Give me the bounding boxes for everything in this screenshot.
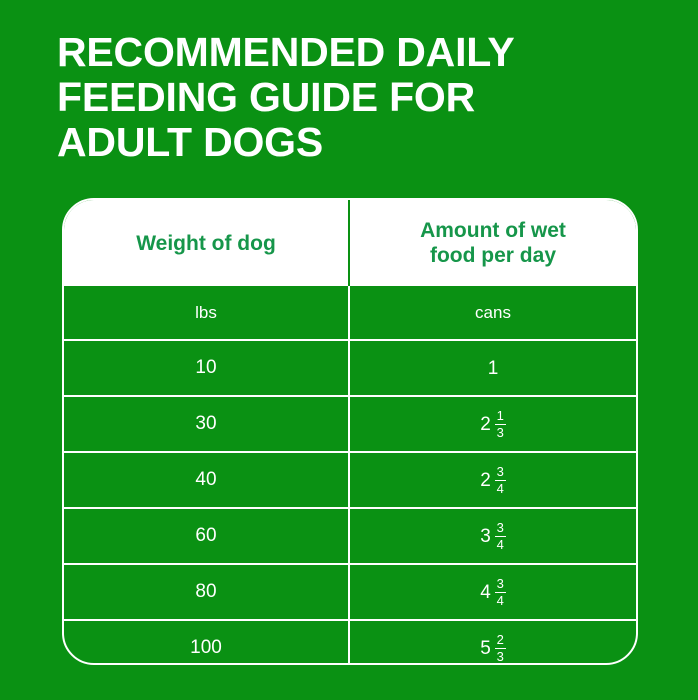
column-header-weight: Weight of dog xyxy=(64,200,350,286)
units-cell-amount: cans xyxy=(350,286,636,339)
cell-amount: 4 3 4 xyxy=(350,565,636,619)
column-header-weight-label: Weight of dog xyxy=(136,231,276,256)
cell-weight: 80 xyxy=(64,565,350,619)
fraction-denominator: 3 xyxy=(496,426,505,440)
column-header-amount: Amount of wet food per day xyxy=(350,200,636,286)
amount-whole: 5 xyxy=(480,639,491,658)
amount-fraction: 3 4 xyxy=(495,577,506,607)
units-label-lbs: lbs xyxy=(195,303,217,323)
amount-value: 4 3 4 xyxy=(480,577,506,607)
amount-value: 5 2 3 xyxy=(480,633,506,663)
weight-value: 40 xyxy=(195,469,216,491)
amount-whole: 4 xyxy=(480,583,491,602)
table-row: 60 3 3 4 xyxy=(64,507,636,563)
cell-amount: 5 2 3 xyxy=(350,621,636,665)
fraction-denominator: 4 xyxy=(496,482,505,496)
cell-amount: 1 xyxy=(350,341,636,395)
amount-value: 2 3 4 xyxy=(480,465,506,495)
fraction-denominator: 3 xyxy=(496,650,505,664)
table-row: 80 4 3 4 xyxy=(64,563,636,619)
cell-weight: 60 xyxy=(64,509,350,563)
weight-value: 60 xyxy=(195,525,216,547)
cell-amount: 2 1 3 xyxy=(350,397,636,451)
cell-amount: 2 3 4 xyxy=(350,453,636,507)
fraction-numerator: 2 xyxy=(496,633,505,647)
amount-value: 3 3 4 xyxy=(480,521,506,551)
cell-weight: 30 xyxy=(64,397,350,451)
page-title: Recommended daily feeding guide for adul… xyxy=(57,30,637,165)
cell-weight: 10 xyxy=(64,341,350,395)
column-header-amount-label: Amount of wet food per day xyxy=(420,218,566,268)
table-row: 30 2 1 3 xyxy=(64,395,636,451)
weight-value: 30 xyxy=(195,413,216,435)
weight-value: 100 xyxy=(190,637,222,659)
amount-whole: 2 xyxy=(480,471,491,490)
table-row: 40 2 3 4 xyxy=(64,451,636,507)
weight-value: 80 xyxy=(195,581,216,603)
fraction-denominator: 4 xyxy=(496,538,505,552)
feeding-guide-table: Weight of dog Amount of wet food per day… xyxy=(62,198,638,665)
fraction-numerator: 3 xyxy=(496,465,505,479)
units-cell-weight: lbs xyxy=(64,286,350,339)
fraction-numerator: 1 xyxy=(496,409,505,423)
table-row: 100 5 2 3 xyxy=(64,619,636,665)
table-header-row: Weight of dog Amount of wet food per day xyxy=(64,200,636,286)
fraction-numerator: 3 xyxy=(496,521,505,535)
cell-amount: 3 3 4 xyxy=(350,509,636,563)
cell-weight: 100 xyxy=(64,621,350,665)
amount-whole: 1 xyxy=(488,359,499,378)
amount-value: 2 1 3 xyxy=(480,409,506,439)
amount-whole: 2 xyxy=(480,415,491,434)
amount-fraction: 3 4 xyxy=(495,521,506,551)
amount-fraction: 1 3 xyxy=(495,409,506,439)
fraction-numerator: 3 xyxy=(496,577,505,591)
table-units-row: lbs cans xyxy=(64,286,636,339)
units-label-cans: cans xyxy=(475,303,511,323)
amount-fraction: 2 3 xyxy=(495,633,506,663)
table-row: 10 1 xyxy=(64,339,636,395)
amount-value: 1 xyxy=(488,359,499,378)
amount-fraction: 3 4 xyxy=(495,465,506,495)
cell-weight: 40 xyxy=(64,453,350,507)
amount-whole: 3 xyxy=(480,527,491,546)
fraction-denominator: 4 xyxy=(496,594,505,608)
weight-value: 10 xyxy=(195,357,216,379)
